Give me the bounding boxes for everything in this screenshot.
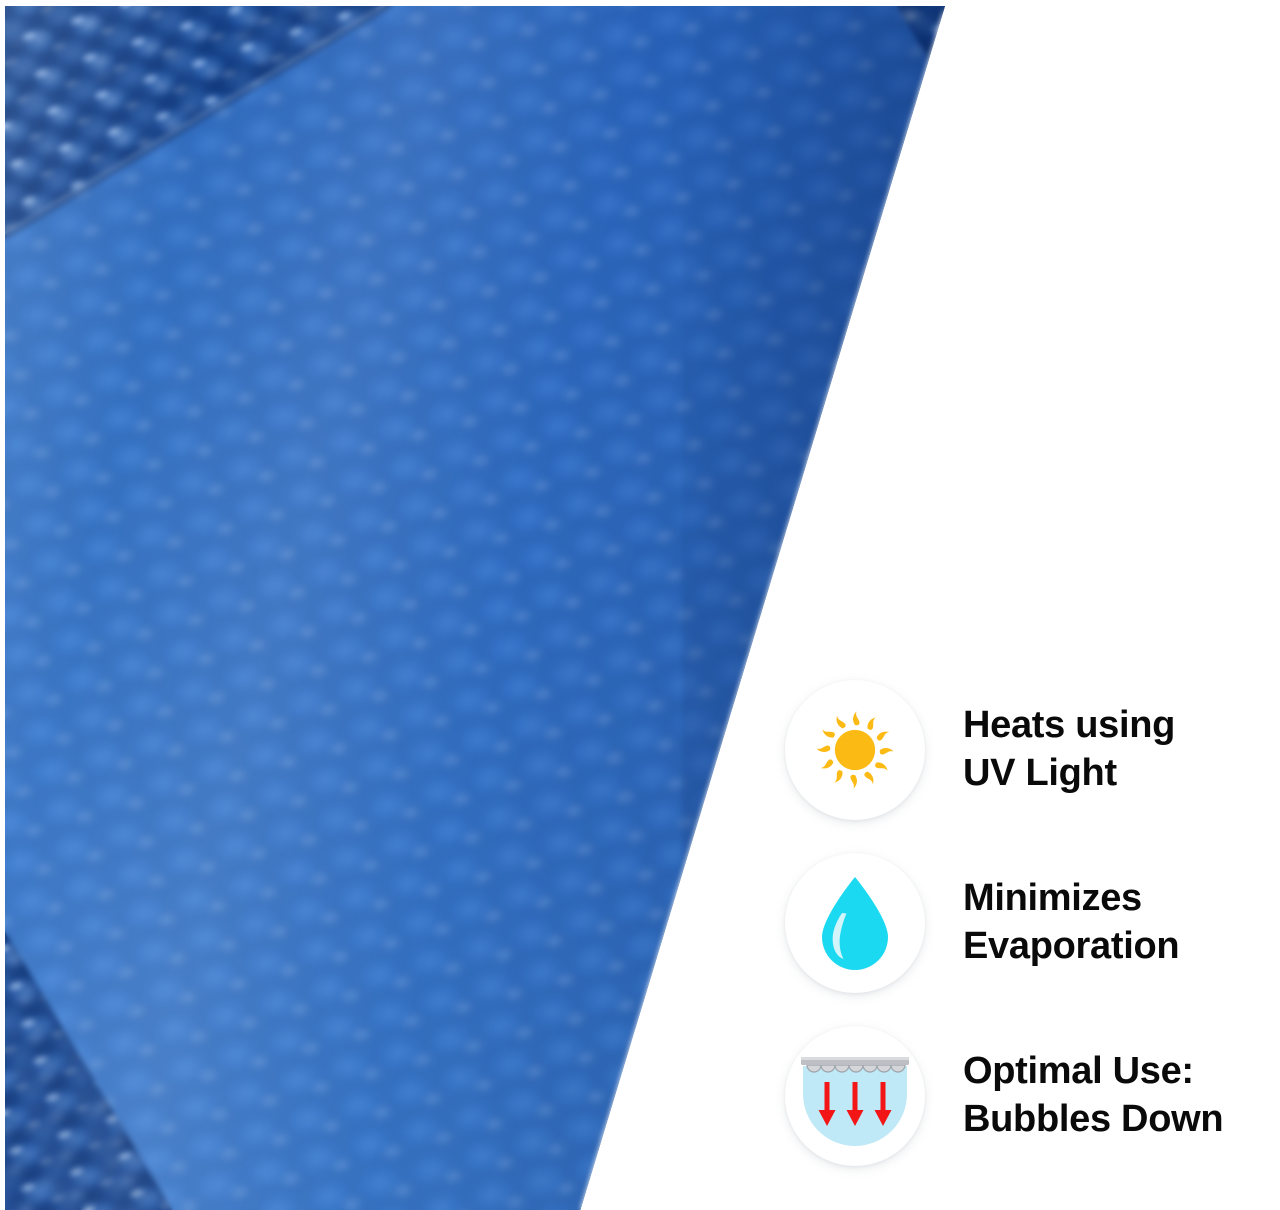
feature-icon-badge bbox=[785, 680, 925, 820]
water-drop-icon bbox=[812, 873, 898, 973]
feature-label-line2: UV Light bbox=[963, 750, 1175, 798]
sun-icon bbox=[807, 702, 903, 798]
feature-label: Optimal Use: Bubbles Down bbox=[963, 1048, 1223, 1144]
feature-row: Heats using UV Light bbox=[785, 665, 1255, 835]
feature-list: Heats using UV Light Minimizes Evaporati… bbox=[785, 665, 1255, 1181]
bubbles-down-pool-icon bbox=[799, 1044, 911, 1148]
feature-row: Minimizes Evaporation bbox=[785, 838, 1255, 1008]
feature-label: Heats using UV Light bbox=[963, 702, 1175, 798]
feature-label-line1: Minimizes bbox=[963, 875, 1179, 923]
feature-label-line2: Evaporation bbox=[963, 923, 1179, 971]
feature-icon-badge bbox=[785, 853, 925, 993]
feature-label-line1: Optimal Use: bbox=[963, 1048, 1223, 1096]
feature-label: Minimizes Evaporation bbox=[963, 875, 1179, 971]
feature-row: Optimal Use: Bubbles Down bbox=[785, 1011, 1255, 1181]
feature-label-line1: Heats using bbox=[963, 702, 1175, 750]
infographic-canvas: Heats using UV Light Minimizes Evaporati… bbox=[0, 0, 1280, 1210]
feature-label-line2: Bubbles Down bbox=[963, 1096, 1223, 1144]
feature-icon-badge bbox=[785, 1026, 925, 1166]
